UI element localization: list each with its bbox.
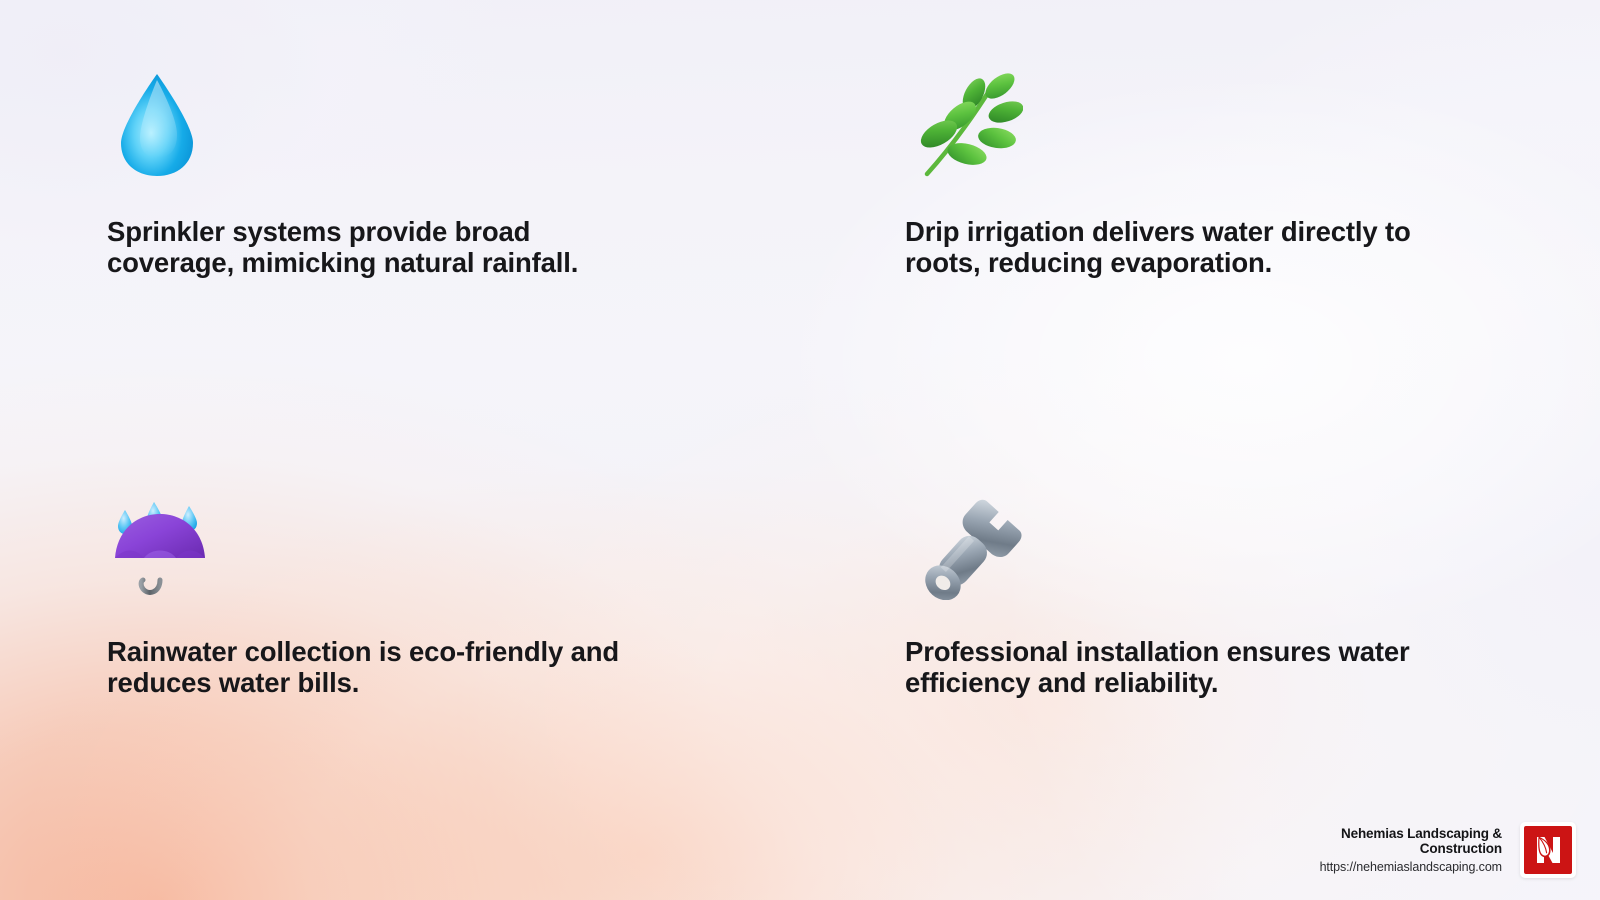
infographic-canvas: Sprinkler systems provide broad coverage… [0,0,1600,900]
brand-name: Nehemias Landscaping & Construction [1320,826,1502,856]
nehemias-logo[interactable] [1520,822,1576,878]
wrench-icon [905,488,1505,600]
tip-text: Rainwater collection is eco-friendly and… [107,636,707,698]
footer-branding: Nehemias Landscaping & Construction http… [1320,822,1576,878]
umbrella-with-rain-icon [107,488,707,600]
tip-card-drip-irrigation: Drip irrigation delivers water directly … [905,68,1505,278]
brand-url[interactable]: https://nehemiaslandscaping.com [1320,860,1502,874]
tip-text: Drip irrigation delivers water directly … [905,216,1505,278]
tip-card-professional-installation: Professional installation ensures water … [905,488,1505,698]
tip-card-sprinkler: Sprinkler systems provide broad coverage… [107,68,707,278]
tip-text: Sprinkler systems provide broad coverage… [107,216,707,278]
herb-leaf-icon [905,68,1505,180]
brand-text-block: Nehemias Landscaping & Construction http… [1320,826,1502,874]
tip-text: Professional installation ensures water … [905,636,1505,698]
tip-card-rainwater: Rainwater collection is eco-friendly and… [107,488,707,698]
droplet-icon [107,68,707,180]
